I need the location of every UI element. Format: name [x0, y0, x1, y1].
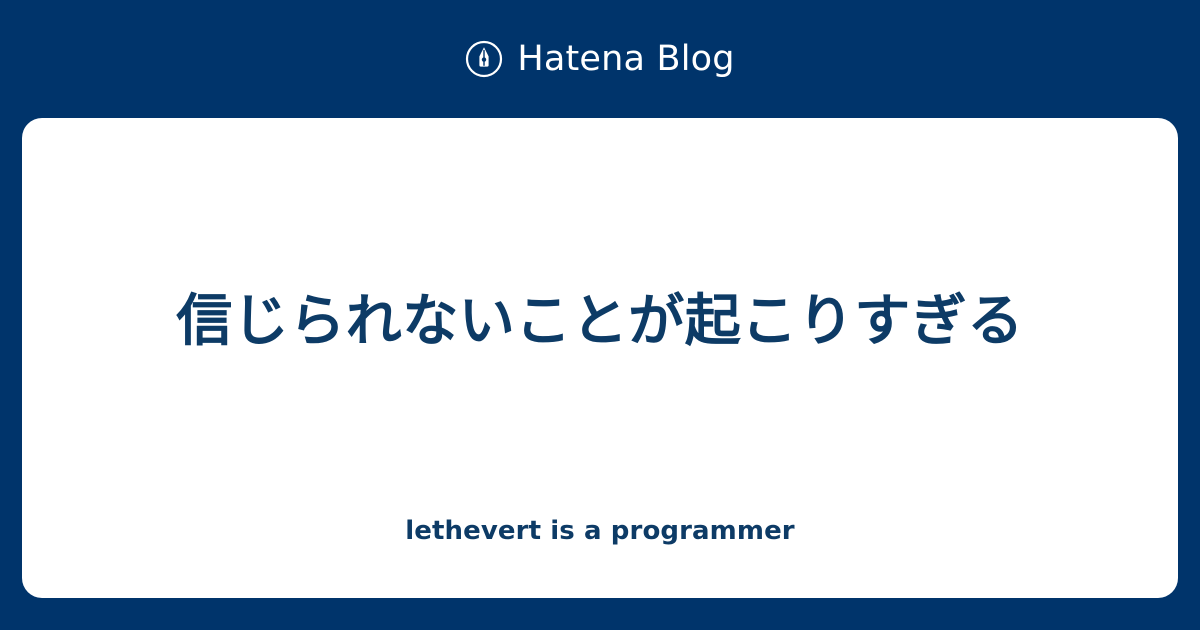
ogp-share-card: Hatena Blog 信じられないことが起こりすぎる lethevert is… [0, 0, 1200, 630]
entry-title: 信じられないことが起こりすぎる [82, 286, 1118, 358]
brand-name-label: Hatena Blog [517, 42, 734, 77]
blog-name: lethevert is a programmer [82, 516, 1118, 547]
fountain-pen-nib-in-circle-icon [465, 40, 503, 78]
brand-header: Hatena Blog [0, 0, 1200, 118]
hatena-blog-logo [465, 40, 503, 78]
entry-card: 信じられないことが起こりすぎる lethevert is a programme… [22, 118, 1178, 598]
